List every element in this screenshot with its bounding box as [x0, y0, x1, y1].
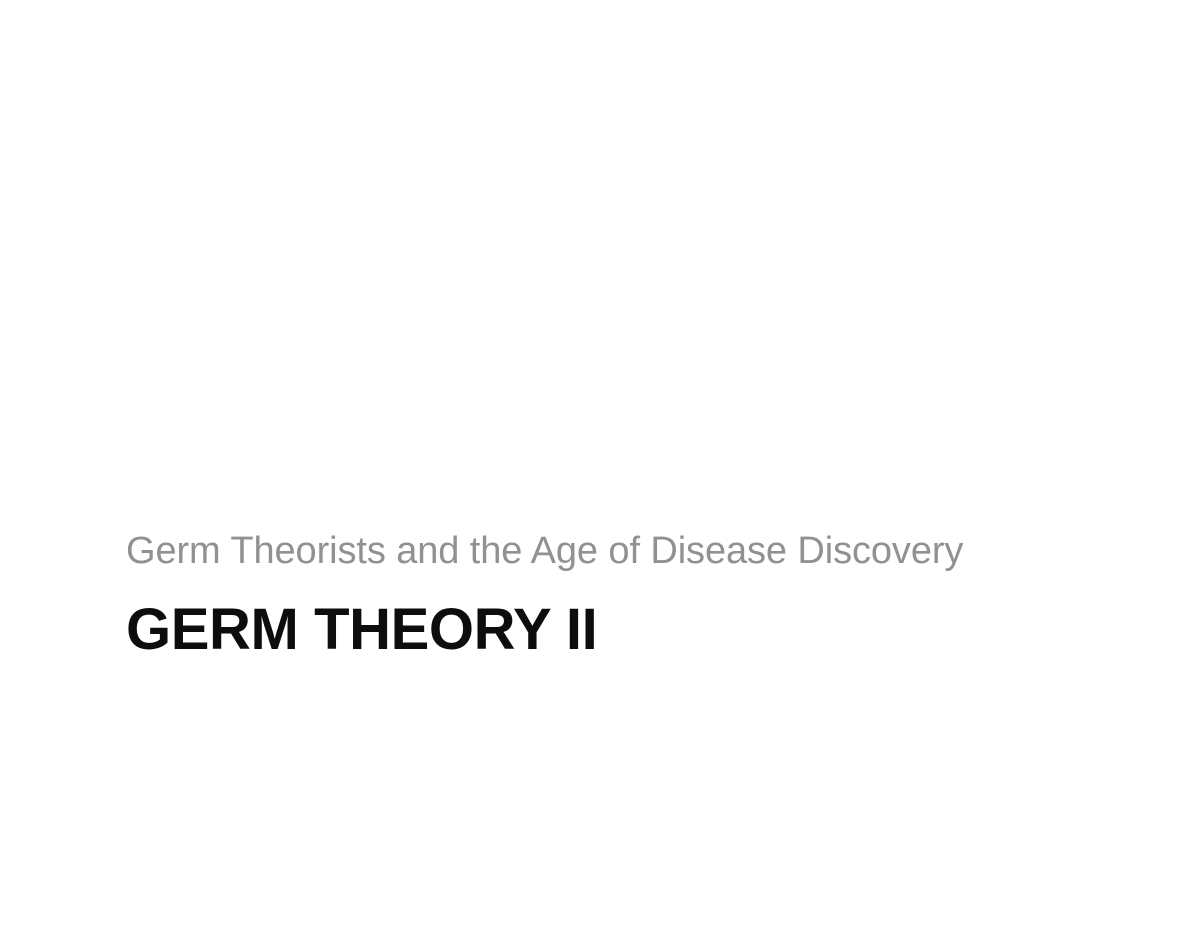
slide-subtitle: Germ Theorists and the Age of Disease Di…: [126, 524, 1076, 578]
title-placeholder-group: Germ Theorists and the Age of Disease Di…: [126, 524, 1076, 661]
title-slide: Germ Theorists and the Age of Disease Di…: [0, 0, 1200, 927]
slide-title: GERM THEORY II: [126, 599, 1076, 661]
